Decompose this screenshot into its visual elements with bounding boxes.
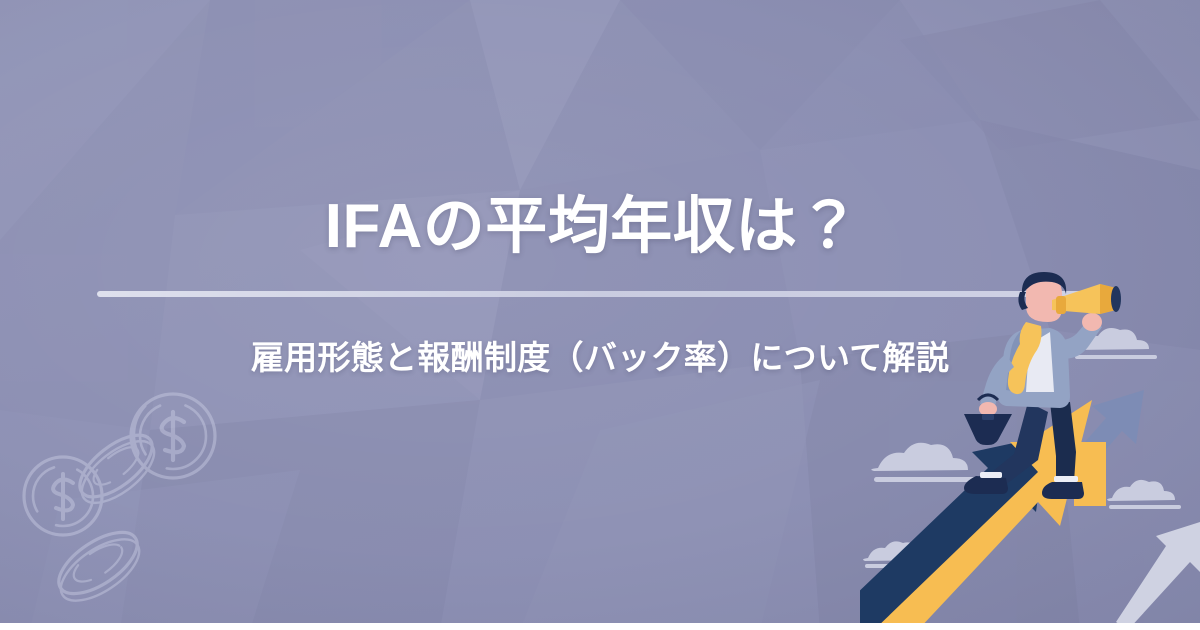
telescope: [1052, 284, 1121, 314]
cloud-mid: [871, 443, 976, 482]
arrow-light-bottom-right: [1116, 522, 1200, 630]
cloud-lower-right: [1107, 480, 1181, 509]
figure-hand-back: [979, 402, 997, 416]
figure-shoe-front: [1042, 482, 1084, 499]
briefcase-clasp: [982, 414, 994, 420]
decorative-coins-group: [18, 378, 248, 628]
figure-hand-front: [1082, 313, 1102, 331]
figure-sock-back: [980, 472, 1002, 478]
page-title: IFAの平均年収は？: [0, 193, 1185, 261]
illustration-businessman-growth: [860, 270, 1200, 630]
figure-sock-front: [1054, 476, 1078, 482]
coin-edge-upper: [70, 424, 164, 514]
og-image-card: IFAの平均年収は？ 雇用形態と報酬制度（バック率）について解説: [0, 0, 1200, 630]
bottom-white-strip: [0, 623, 1200, 630]
